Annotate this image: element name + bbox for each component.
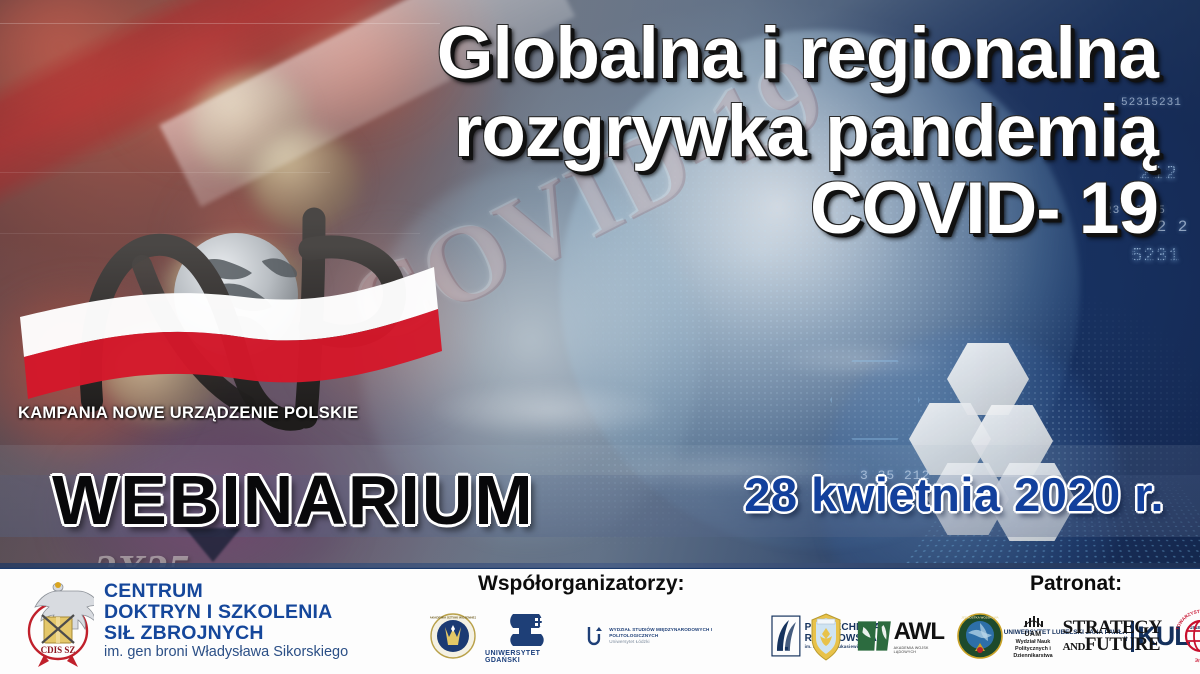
- title-line-1: Globalna i regionalna: [298, 18, 1158, 90]
- logo-label-and: AND: [1063, 641, 1085, 653]
- logo-label-line-2: ANDFUTURE: [1063, 636, 1160, 653]
- logo-label: WYDZIAŁ STUDIÓW MIĘDZYNARODOWYCH I POLIT…: [609, 627, 762, 638]
- logo-sublabel: Uniwersytet Łódzki: [609, 639, 762, 645]
- logo-akademia-sztuki-wojennej: AKADEMIA SZTUKI WOJENNEJ: [430, 613, 476, 659]
- event-type-label: WEBINARIUM: [52, 460, 535, 540]
- title-line-2: rozgrywka pandemią: [298, 96, 1158, 168]
- logo-sublabel: AKADEMIA WOJSK LĄDOWYCH: [894, 646, 948, 654]
- webinar-poster: COVID-19 5231523121223 12 3512 252313 35…: [0, 0, 1200, 674]
- organizer-line-3: SIŁ ZBROJNYCH: [104, 623, 348, 644]
- organizer-line-1: CENTRUM: [104, 581, 348, 602]
- logo-herb-miasta: [806, 610, 846, 662]
- svg-text:POLSKIE: POLSKIE: [1194, 654, 1200, 663]
- main-organizer: CDIS SZ CENTRUM DOKTRYN I SZKOLENIA SIŁ …: [22, 573, 348, 669]
- logo-awl-akademia-wojsk-ladowych: AWL AKADEMIA WOJSK LĄDOWYCH: [856, 616, 947, 656]
- knup-logo: 2X35: [14, 205, 464, 435]
- knup-logo-caption: KAMPANIA NOWE URZĄDZENIE POLSKIE: [18, 404, 448, 423]
- scan-line: [0, 172, 330, 173]
- logo-mark: UAM: [1025, 631, 1042, 638]
- knup-logo-graphic: [14, 205, 464, 435]
- logo-wojskowa-jednostka-emblem: JEDNOSTKA WOJSKOWA: [957, 613, 1003, 659]
- svg-text:AKADEMIA SZTUKI WOJENNEJ: AKADEMIA SZTUKI WOJENNEJ: [430, 616, 476, 620]
- main-organizer-text: CENTRUM DOKTRYN I SZKOLENIA SIŁ ZBROJNYC…: [104, 581, 348, 660]
- coorganizers-label: Współorganizatorzy:: [478, 572, 685, 596]
- logo-label: AWL: [894, 618, 944, 646]
- event-date: 28 kwietnia 2020 r.: [744, 467, 1164, 522]
- svg-text:JEDNOSTKA WOJSKOWA: JEDNOSTKA WOJSKOWA: [962, 616, 1000, 620]
- logo-wydzial-studiow-miedzynarodowych: WYDZIAŁ STUDIÓW MIĘDZYNARODOWYCH I POLIT…: [586, 624, 761, 648]
- logo-label: UNIWERSYTET GDAŃSKI: [485, 650, 577, 664]
- patron-logos: AWL AKADEMIA WOJSK LĄDOWYCH JEDNOSTKA WO…: [806, 603, 1200, 669]
- cdis-sz-crest: CDIS SZ: [22, 573, 94, 669]
- patronage-label: Patronat:: [1030, 572, 1122, 596]
- footer-bar: CDIS SZ CENTRUM DOKTRYN I SZKOLENIA SIŁ …: [0, 567, 1200, 674]
- organizer-subtitle: im. gen broni Władysława Sikorskiego: [104, 645, 348, 660]
- logo-label-future: FUTURE: [1085, 634, 1160, 655]
- logo-polskie-towarzystwo-geopolityczne: TOWARZYSTWO GEOPOLITYCZNE POLSKIE: [1172, 607, 1200, 665]
- organizer-line-2: DOKTRYN I SZKOLENIA: [104, 602, 348, 623]
- logo-sublabel: Wydział Nauk Politycznych i Dziennikarst…: [1013, 639, 1052, 660]
- crest-label: CDIS SZ: [41, 645, 76, 655]
- logo-uam-wydzial-nauk-politycznych: UAM Wydział Nauk Politycznych i Dziennik…: [1013, 612, 1052, 660]
- logo-uniwersytet-gdanski: UNIWERSYTET GDAŃSKI: [485, 608, 577, 664]
- logo-strategy-and-future: STRATEGY ANDFUTURE: [1063, 619, 1162, 654]
